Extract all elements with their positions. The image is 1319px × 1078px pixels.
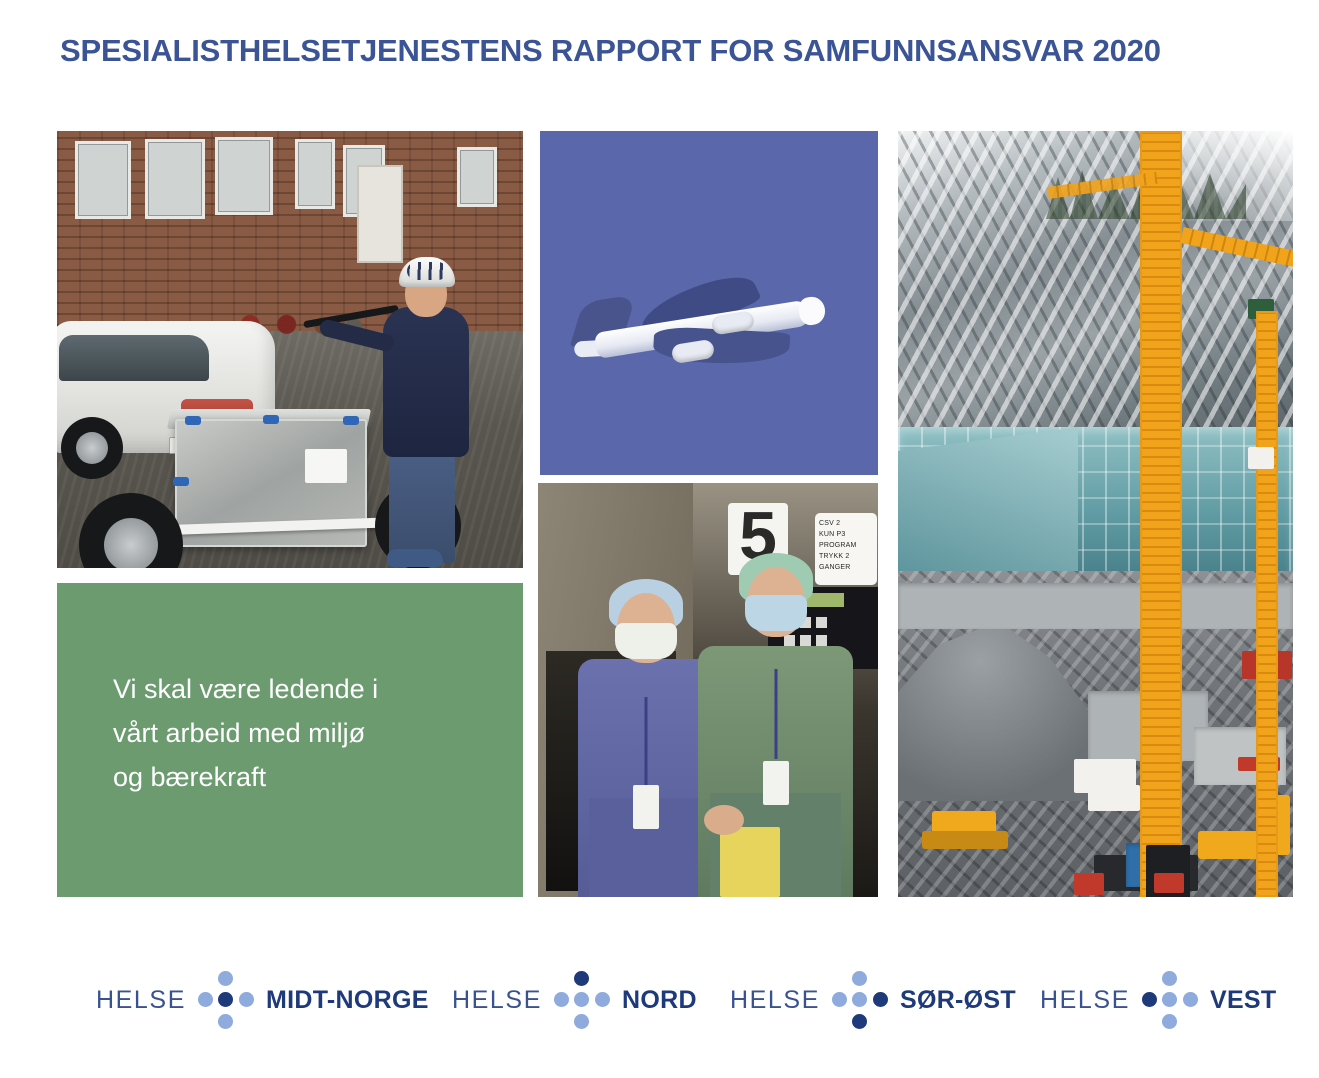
dot-center <box>1162 992 1177 1007</box>
helse-dot-cross-icon <box>554 971 610 1029</box>
dot-north <box>218 971 233 986</box>
lanyard <box>644 697 647 787</box>
report-cover-page: SPESIALISTHELSETJENESTENS RAPPORT FOR SA… <box>0 0 1319 1078</box>
cargo-clip <box>343 416 359 425</box>
logo-helse-word: HELSE <box>1040 986 1130 1015</box>
statement-line-2: vårt arbeid med miljø <box>113 711 483 755</box>
construction-site-photo <box>898 131 1293 897</box>
car-wheel <box>61 417 123 479</box>
cyclist-shoe <box>387 549 443 567</box>
airplane-photo <box>540 131 878 475</box>
dot-north <box>574 971 589 986</box>
dot-east <box>239 992 254 1007</box>
green-statement-box: Vi skal være ledende i vårt arbeid med m… <box>57 583 523 897</box>
logo-region-name: MIDT-NORGE <box>266 986 429 1015</box>
dot-east <box>1183 992 1198 1007</box>
yellow-folder <box>720 827 780 897</box>
logo-helse-word: HELSE <box>452 986 542 1015</box>
tower-crane-mast-main <box>1140 131 1182 897</box>
logo-helse-word: HELSE <box>96 986 186 1015</box>
staff-hand <box>704 805 744 835</box>
surgical-staff-photo: 5 CSV 2 KUN P3 PROGRAM TRYKK 2 GANGER <box>538 483 878 897</box>
dot-west <box>198 992 213 1007</box>
regional-health-authority-logos: HELSE MIDT-NORGE HELSE NORD HELSE <box>0 962 1319 1052</box>
tower-crane-mast-second <box>1256 311 1278 897</box>
building-window <box>457 147 497 207</box>
dot-south <box>218 1014 233 1029</box>
dot-south <box>852 1014 867 1029</box>
dot-center <box>852 992 867 1007</box>
logo-helse-sor-ost[interactable]: HELSE SØR-ØST <box>730 962 1016 1038</box>
logo-region-name: VEST <box>1210 986 1277 1015</box>
dot-center <box>218 992 233 1007</box>
helse-dot-cross-icon <box>198 971 254 1029</box>
car-window <box>59 335 209 381</box>
sign-line: CSV 2 <box>819 518 873 529</box>
glass-building-wing <box>898 427 1078 577</box>
dot-north <box>852 971 867 986</box>
dot-east <box>595 992 610 1007</box>
id-badge <box>633 785 659 829</box>
cargo-handle <box>173 477 189 486</box>
crane-number-plate <box>1248 447 1274 469</box>
logo-region-name: NORD <box>622 986 697 1015</box>
dot-east <box>873 992 888 1007</box>
helse-dot-cross-icon <box>1142 971 1198 1029</box>
dot-south <box>1162 1014 1177 1029</box>
lanyard <box>774 669 777 759</box>
statement-line-1: Vi skal være ledende i <box>113 667 483 711</box>
logo-helse-vest[interactable]: HELSE VEST <box>1040 962 1276 1038</box>
cyclist-jacket <box>383 307 469 457</box>
excavator-track <box>922 831 1008 849</box>
dot-south <box>574 1014 589 1029</box>
sign-line: KUN P3 <box>819 529 873 540</box>
dot-center <box>574 992 589 1007</box>
building-window <box>75 141 131 219</box>
page-title: SPESIALISTHELSETJENESTENS RAPPORT FOR SA… <box>60 33 1161 69</box>
cargo-bike-photo <box>57 131 523 568</box>
blue-face-mask <box>615 623 677 659</box>
staff-member-green-scrubs <box>698 549 853 897</box>
dot-north <box>1162 971 1177 986</box>
logo-region-name: SØR-ØST <box>900 986 1016 1015</box>
statement-line-3: og bærekraft <box>113 755 483 799</box>
white-crate <box>1088 785 1140 811</box>
cargo-clip <box>185 416 201 425</box>
green-face-mask <box>745 595 807 631</box>
dot-west <box>832 992 847 1007</box>
statement-text: Vi skal være ledende i vårt arbeid med m… <box>113 667 483 799</box>
building-window <box>215 137 273 215</box>
passenger-jet <box>566 262 827 390</box>
logo-helse-midt-norge[interactable]: HELSE MIDT-NORGE <box>96 962 429 1038</box>
building-window <box>145 139 205 219</box>
building-door <box>357 165 403 263</box>
cargo-box-label <box>305 449 347 483</box>
building-window <box>295 139 335 209</box>
concrete-retaining-wall <box>898 583 1293 629</box>
cargo-clip <box>263 415 279 424</box>
logo-helse-nord[interactable]: HELSE NORD <box>452 962 697 1038</box>
dot-west <box>1142 992 1157 1007</box>
crane-base-marker <box>1154 873 1184 893</box>
red-equipment <box>1074 873 1104 895</box>
cyclist-legs <box>389 447 455 563</box>
dot-west <box>554 992 569 1007</box>
logo-helse-word: HELSE <box>730 986 820 1015</box>
id-badge <box>763 761 789 805</box>
staff-member-blue-scrubs <box>578 567 713 897</box>
helse-dot-cross-icon <box>832 971 888 1029</box>
